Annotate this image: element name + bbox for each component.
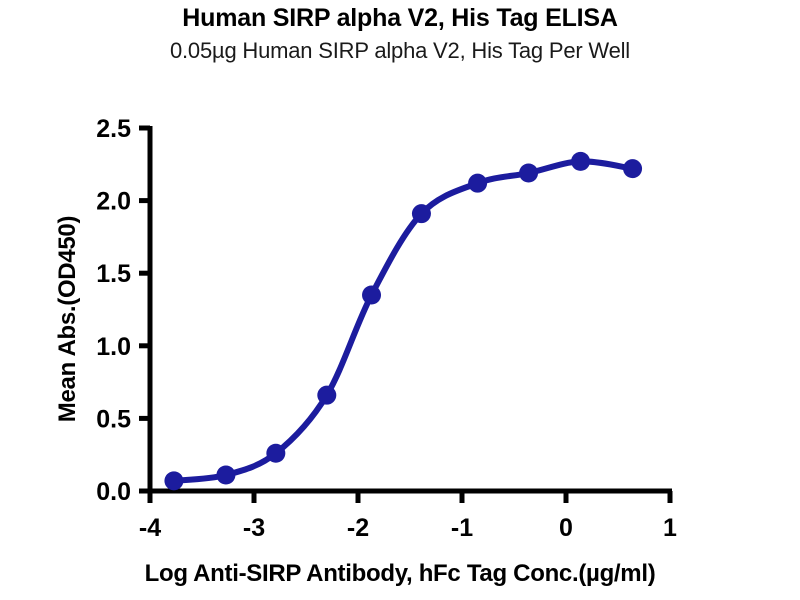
y-tick-label: 0.5	[96, 405, 131, 433]
y-axis-label: Mean Abs.(OD450)	[54, 119, 82, 519]
data-point	[164, 471, 183, 490]
x-tick-label: -4	[139, 514, 161, 542]
fit-curve	[174, 161, 633, 480]
data-point	[519, 164, 538, 183]
data-point	[266, 444, 285, 463]
data-point	[216, 466, 235, 485]
data-point	[571, 152, 590, 171]
chart-figure: Human SIRP alpha V2, His Tag ELISA 0.05µ…	[0, 0, 800, 600]
data-point	[623, 159, 642, 178]
y-tick-label: 2.5	[96, 115, 131, 143]
x-tick-label: -1	[451, 514, 473, 542]
y-tick-label: 2.0	[96, 188, 131, 216]
series-line	[174, 161, 633, 480]
x-axis-label: Log Anti-SIRP Antibody, hFc Tag Conc.(µg…	[0, 560, 800, 588]
x-tick-label: -3	[243, 514, 265, 542]
y-tick-label: 1.0	[96, 333, 131, 361]
data-point	[317, 386, 336, 405]
x-tick-label: 1	[663, 514, 677, 542]
axes	[148, 126, 672, 491]
data-point	[412, 204, 431, 223]
data-points	[164, 152, 642, 490]
data-point	[468, 174, 487, 193]
data-point	[362, 285, 381, 304]
x-tick-label: -2	[347, 514, 369, 542]
axis-ticks	[139, 128, 670, 503]
y-tick-label: 0.0	[96, 478, 131, 506]
y-tick-label: 1.5	[96, 260, 131, 288]
x-tick-label: 0	[559, 514, 573, 542]
plot-area: 0.00.51.01.52.02.5-4-3-2-101	[0, 0, 800, 600]
